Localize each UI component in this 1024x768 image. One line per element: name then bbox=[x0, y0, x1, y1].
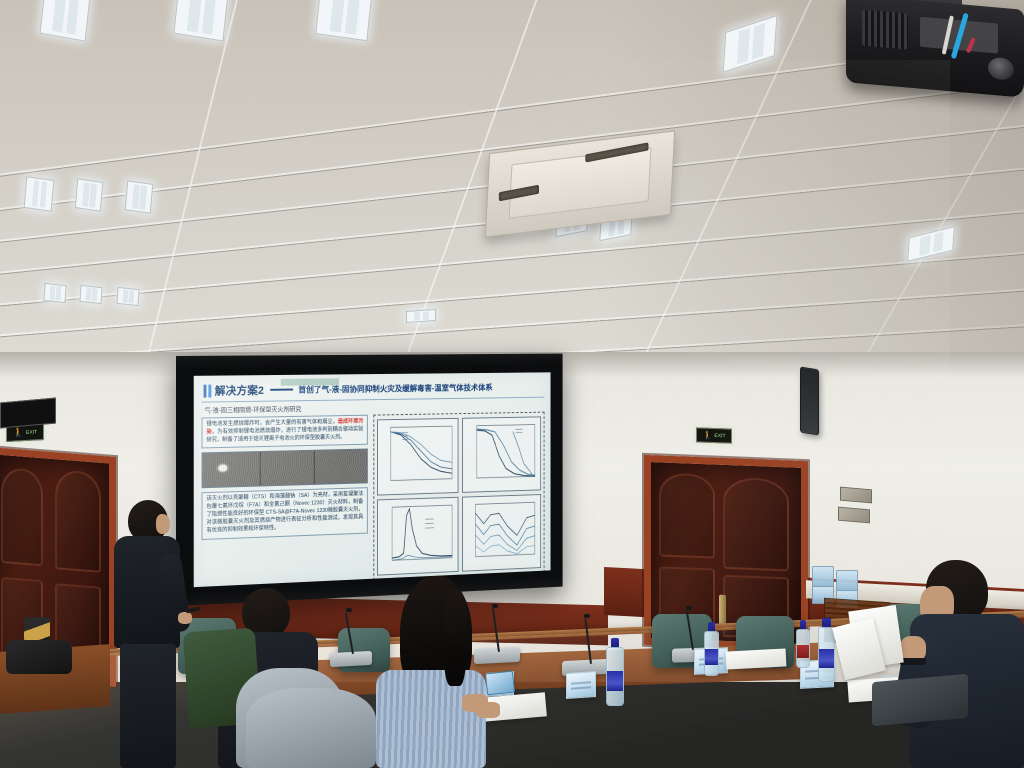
presenter-face bbox=[156, 514, 170, 534]
ceiling-light-panel bbox=[24, 176, 55, 212]
running-person-icon: 🚶 bbox=[702, 431, 712, 439]
presenter-hand bbox=[178, 612, 192, 624]
laptop-bag bbox=[872, 674, 968, 726]
attendee-2-hand bbox=[476, 702, 500, 718]
chart-dtg-curve bbox=[462, 416, 541, 492]
ceiling-light-panel bbox=[406, 309, 436, 323]
wall-speaker bbox=[800, 366, 819, 435]
projector-lens bbox=[988, 57, 1014, 81]
documents-on-table bbox=[726, 648, 787, 669]
mobile-phone[interactable] bbox=[485, 671, 515, 696]
water-bottle bbox=[796, 620, 810, 668]
ceiling bbox=[0, 0, 1024, 372]
ceiling-light-panel bbox=[43, 283, 66, 303]
chart-ftir-spectrum bbox=[462, 494, 541, 572]
wall-plaque-lower bbox=[838, 507, 870, 524]
slide-title-main: 解决方案2 bbox=[215, 382, 264, 398]
water-bottle bbox=[704, 622, 719, 676]
screen-label-strip bbox=[281, 378, 339, 385]
exit-sign-label: EXIT bbox=[714, 433, 725, 439]
attendee-2 bbox=[380, 576, 500, 768]
attendee-4 bbox=[246, 688, 376, 768]
wall-plaque-left bbox=[0, 398, 56, 429]
chart-tg-curve bbox=[377, 418, 458, 496]
exit-sign-label: EXIT bbox=[26, 429, 37, 436]
door-handle[interactable] bbox=[719, 595, 726, 625]
ceiling-light-panel bbox=[315, 0, 372, 41]
attendee-3 bbox=[904, 560, 1024, 768]
slide-chart-panel: 抑制效果图 bbox=[373, 412, 544, 588]
conference-room-scene: 🚶 EXIT 🚶 EXIT bbox=[0, 0, 1024, 768]
water-bottle bbox=[606, 638, 624, 706]
chart-dsc-curve bbox=[377, 497, 458, 576]
sem-micrograph-image bbox=[202, 449, 368, 489]
ceiling-light-panel bbox=[116, 287, 139, 306]
black-bag bbox=[6, 640, 72, 674]
name-card bbox=[566, 671, 596, 699]
slide-paragraph-top: 锂电池发生燃烧爆炸时，会产生大量的有害气体和烟尘，造成环境污染，为有效抑制锂电池… bbox=[202, 415, 368, 449]
attendee-4-torso bbox=[246, 688, 376, 768]
ceiling-light-panel bbox=[125, 180, 154, 213]
slide-body: 锂电池发生燃烧爆炸时，会产生大量的有害气体和烟尘，造成环境污染，为有效抑制锂电池… bbox=[202, 412, 545, 588]
projector bbox=[846, 0, 1024, 98]
microphone-head bbox=[584, 614, 590, 618]
slide-left-column: 锂电池发生燃烧爆炸时，会产生大量的有害气体和烟尘，造成环境污染，为有效抑制锂电池… bbox=[202, 415, 368, 587]
slide-title-row: 解决方案2 首创了气-液-固协同抑制火灾及缓解毒害-温室气体技术体系 bbox=[202, 377, 545, 400]
ceiling-light-panel bbox=[75, 178, 104, 211]
bottled-water-stack bbox=[812, 566, 834, 588]
exit-sign-right: 🚶 EXIT bbox=[696, 427, 732, 443]
attendee-2-torso bbox=[376, 670, 486, 768]
paragraph-top-part2: ，为有效抑制锂电池燃烧爆炸，进行了锂电池多判别耦合驱动实验研究，制备了适用于熄灭… bbox=[206, 426, 363, 443]
bottled-water-stack bbox=[836, 570, 858, 592]
presenter-legs bbox=[120, 644, 176, 768]
title-dash-rule bbox=[270, 389, 293, 391]
projector-vent-grill bbox=[862, 10, 908, 50]
wall-plaque-upper bbox=[840, 487, 872, 504]
ceiling-light-panel bbox=[79, 285, 102, 304]
wristwatch bbox=[900, 658, 926, 665]
running-person-icon: 🚶 bbox=[13, 428, 24, 438]
presenter bbox=[112, 500, 192, 768]
projection-screen: 解决方案2 首创了气-液-固协同抑制火灾及缓解毒害-温室气体技术体系 气-液-固… bbox=[176, 354, 563, 606]
attendee-2-hair-front bbox=[444, 590, 466, 686]
slide-paragraph-bottom: 该灭火剂以壳聚糖（CTS）和海藻酸钠（SA）为壳材，采用复凝聚法包覆七氟环戊烷（… bbox=[202, 488, 368, 540]
microphone-head bbox=[346, 608, 352, 612]
screen-top-bar bbox=[176, 354, 563, 370]
presentation-slide: 解决方案2 首创了气-液-固协同抑制火灾及缓解毒害-温室气体技术体系 气-液-固… bbox=[194, 372, 551, 587]
chart-grid bbox=[377, 416, 541, 575]
title-accent-bars bbox=[204, 384, 211, 397]
microphone-head bbox=[686, 606, 692, 610]
